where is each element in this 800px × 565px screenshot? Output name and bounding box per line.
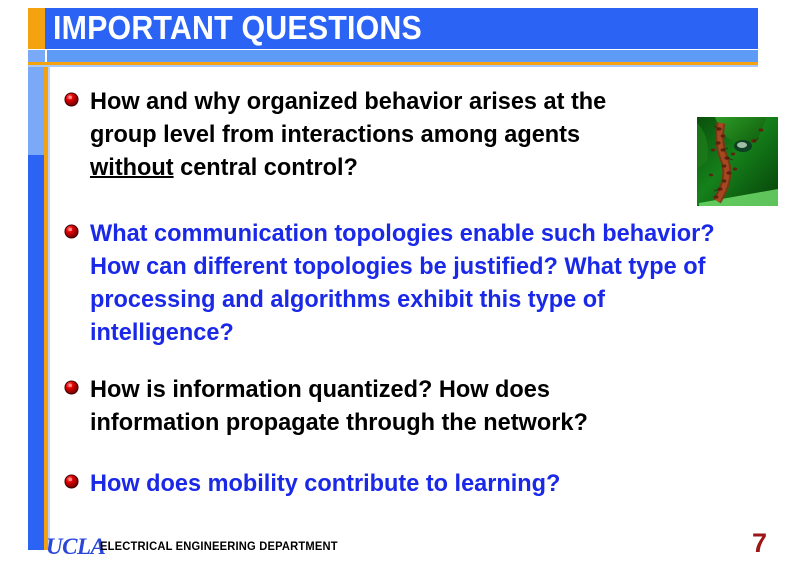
header-thin-blue-rule [28,65,758,67]
list-item: What communication topologies enable suc… [64,217,754,349]
sidebar-thin-blue-stripe [48,67,50,550]
list-item-text: How does mobility contribute to learning… [90,467,560,500]
red-sphere-bullet-icon [64,224,79,239]
header-orange-accent-block [28,8,45,49]
ants-on-leaf-photo [697,117,778,206]
list-item: How is information quantized? How does i… [64,373,684,439]
red-sphere-bullet-icon [64,380,79,395]
slide-canvas: IMPORTANT QUESTIONS How and why organize [0,0,800,565]
sidebar-accent-dark [28,155,44,550]
department-name: ELECTRICAL ENGINEERING DEPARTMENT [100,540,338,554]
ucla-logo-text: UCLA [46,535,105,558]
list-item-text: How is information quantized? How does i… [90,373,660,439]
list-item: How does mobility contribute to learning… [64,467,684,500]
sidebar-accent-light [28,67,44,155]
list-item: How and why organized behavior arises at… [64,85,684,184]
list-item-text: How and why organized behavior arises at… [90,85,660,184]
red-sphere-bullet-icon [64,92,79,107]
header-light-band-left [28,50,45,62]
list-item-text: What communication topologies enable suc… [90,217,727,349]
page-title: IMPORTANT QUESTIONS [53,9,697,49]
red-sphere-bullet-icon [64,474,79,489]
header-light-band [47,50,758,62]
page-number: 7 [752,528,767,558]
